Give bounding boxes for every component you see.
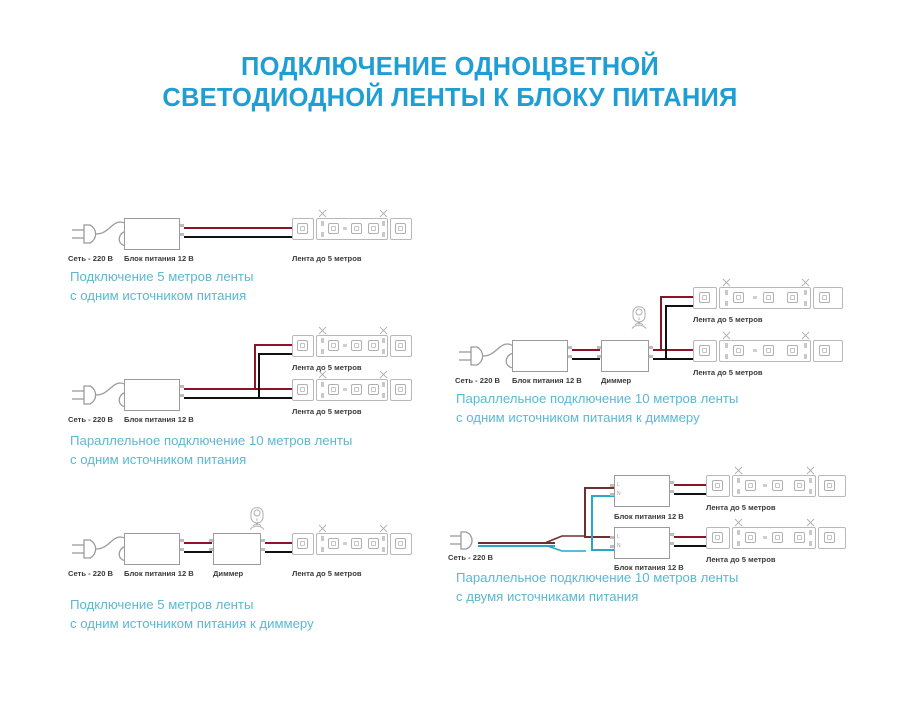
cut-mark-icon bbox=[722, 278, 732, 287]
cut-mark-icon bbox=[379, 326, 389, 335]
wire-negative bbox=[665, 305, 693, 307]
label-strip: Лента до 5 метров bbox=[693, 368, 763, 377]
cut-mark-icon bbox=[318, 326, 328, 335]
caption-diagram-1: Подключение 5 метров ленты с одним источ… bbox=[70, 268, 253, 305]
wire-negative bbox=[184, 551, 212, 553]
wire-positive bbox=[674, 536, 706, 538]
wire-positive bbox=[184, 542, 212, 544]
label-mains: Сеть - 220 В bbox=[455, 376, 500, 385]
label-mains: Сеть - 220 В bbox=[68, 415, 113, 424]
wire-neutral-cyan bbox=[478, 545, 555, 547]
wire-neutral-cyan bbox=[591, 549, 614, 551]
wire-negative bbox=[653, 358, 693, 360]
led-strip bbox=[706, 475, 846, 497]
wire-positive bbox=[572, 349, 600, 351]
page-title: ПОДКЛЮЧЕНИЕ ОДНОЦВЕТНОЙ СВЕТОДИОДНОЙ ЛЕН… bbox=[0, 52, 900, 114]
wire-positive bbox=[653, 349, 693, 351]
cut-mark-icon bbox=[379, 209, 389, 218]
label-psu: Блок питания 12 В bbox=[124, 569, 194, 578]
wire-split-joint bbox=[546, 534, 586, 554]
label-mains: Сеть - 220 В bbox=[68, 569, 113, 578]
wire-negative bbox=[674, 545, 706, 547]
cut-mark-icon bbox=[318, 209, 328, 218]
psu-terminal-n bbox=[610, 545, 614, 548]
psu-terminal-l bbox=[610, 484, 614, 487]
title-line-2: СВЕТОДИОДНОЙ ЛЕНТЫ К БЛОКУ ПИТАНИЯ bbox=[0, 83, 900, 114]
cut-mark-icon bbox=[379, 370, 389, 379]
cut-mark-icon bbox=[318, 370, 328, 379]
led-strip bbox=[292, 379, 412, 401]
terminal-label-l: L bbox=[617, 481, 620, 490]
wire-positive bbox=[254, 388, 292, 390]
cut-mark-icon bbox=[801, 331, 811, 340]
dimmer-box bbox=[213, 533, 261, 565]
wire-negative bbox=[674, 493, 706, 495]
power-supply-box bbox=[614, 527, 670, 559]
caption-diagram-5: Параллельное подключение 10 метров ленты… bbox=[456, 569, 738, 606]
psu-terminal-l bbox=[610, 536, 614, 539]
label-dimmer: Диммер bbox=[601, 376, 631, 385]
wire-neutral-cyan-riser bbox=[591, 495, 593, 551]
dimmer-box bbox=[601, 340, 649, 372]
wire-negative bbox=[258, 353, 292, 355]
wire-negative bbox=[572, 358, 600, 360]
diagram-canvas: ПОДКЛЮЧЕНИЕ ОДНОЦВЕТНОЙ СВЕТОДИОДНОЙ ЛЕН… bbox=[0, 0, 900, 720]
label-strip: Лента до 5 метров bbox=[292, 254, 362, 263]
label-strip: Лента до 5 метров bbox=[706, 555, 776, 564]
cut-mark-icon bbox=[379, 524, 389, 533]
cut-mark-icon bbox=[801, 278, 811, 287]
led-strip bbox=[292, 218, 412, 240]
caption-diagram-3: Подключение 5 метров ленты с одним источ… bbox=[70, 596, 314, 633]
power-supply-box bbox=[512, 340, 568, 372]
psu-terminal-n bbox=[610, 493, 614, 496]
cut-mark-icon bbox=[722, 331, 732, 340]
terminal-label-l: L bbox=[617, 533, 620, 542]
power-supply-box bbox=[124, 379, 180, 411]
wire-positive-riser bbox=[254, 344, 256, 390]
wire-negative bbox=[184, 236, 296, 238]
wire-negative-riser bbox=[258, 353, 260, 399]
power-supply-box bbox=[124, 533, 180, 565]
wire-negative-riser bbox=[665, 305, 667, 360]
label-strip: Лента до 5 метров bbox=[292, 569, 362, 578]
label-strip: Лента до 5 метров bbox=[292, 407, 362, 416]
wire-positive bbox=[184, 388, 256, 390]
wire-negative bbox=[184, 397, 258, 399]
label-psu: Блок питания 12 В bbox=[124, 415, 194, 424]
wire-positive bbox=[254, 344, 292, 346]
remote-control-icon bbox=[625, 306, 653, 334]
wire-line-brown bbox=[584, 487, 614, 489]
power-supply-box bbox=[124, 218, 180, 250]
label-mains: Сеть - 220 В bbox=[448, 553, 493, 562]
wire-negative bbox=[265, 551, 292, 553]
label-psu: Блок питания 12 В bbox=[614, 512, 684, 521]
cut-mark-icon bbox=[806, 466, 816, 475]
cut-mark-icon bbox=[734, 466, 744, 475]
label-psu: Блок питания 12 В bbox=[512, 376, 582, 385]
cut-mark-icon bbox=[318, 524, 328, 533]
title-line-1: ПОДКЛЮЧЕНИЕ ОДНОЦВЕТНОЙ bbox=[0, 52, 900, 83]
wire-positive bbox=[265, 542, 292, 544]
led-strip bbox=[693, 340, 843, 362]
wire-positive bbox=[674, 484, 706, 486]
led-strip bbox=[706, 527, 846, 549]
wire-line-brown-riser bbox=[584, 487, 586, 538]
caption-diagram-2: Параллельное подключение 10 метров ленты… bbox=[70, 432, 352, 469]
wire-negative bbox=[258, 397, 292, 399]
label-psu: Блок питания 12 В bbox=[124, 254, 194, 263]
label-strip: Лента до 5 метров bbox=[693, 315, 763, 324]
led-strip bbox=[292, 533, 412, 555]
power-supply-box bbox=[614, 475, 670, 507]
led-strip bbox=[693, 287, 843, 309]
terminal-label-n: N bbox=[617, 490, 621, 499]
remote-control-icon bbox=[243, 507, 271, 533]
caption-diagram-4: Параллельное подключение 10 метров ленты… bbox=[456, 390, 738, 427]
label-strip: Лента до 5 метров bbox=[706, 503, 776, 512]
label-dimmer: Диммер bbox=[213, 569, 243, 578]
led-strip bbox=[292, 335, 412, 357]
wire-positive-riser bbox=[660, 296, 662, 351]
cut-mark-icon bbox=[806, 518, 816, 527]
label-mains: Сеть - 220 В bbox=[68, 254, 113, 263]
wire-line-brown bbox=[478, 542, 555, 544]
wire-positive bbox=[184, 227, 296, 229]
wire-positive bbox=[660, 296, 693, 298]
terminal-label-n: N bbox=[617, 542, 621, 551]
cut-mark-icon bbox=[734, 518, 744, 527]
